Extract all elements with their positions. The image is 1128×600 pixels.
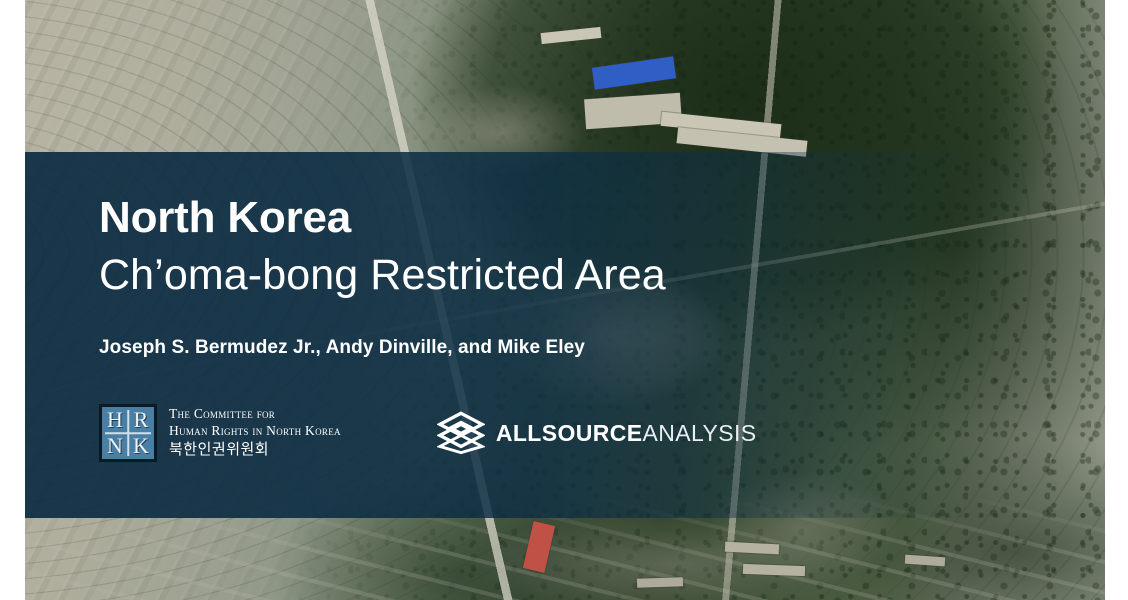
hrnk-letter-h: H	[102, 407, 128, 433]
hrnk-line-2: Human Rights in North Korea	[169, 423, 341, 440]
stacked-layers-diamond-icon	[437, 410, 485, 456]
hrnk-wordmark: The Committee for Human Rights in North …	[169, 406, 341, 460]
cover-slide: North Korea Ch’oma-bong Restricted Area …	[0, 0, 1128, 600]
hrnk-quadrant-logo-icon: H R N K	[99, 404, 157, 462]
hrnk-letter-k: K	[128, 433, 154, 459]
hrnk-line-1: The Committee for	[169, 406, 341, 423]
hrnk-logo: H R N K The Committee for Human Rights i…	[99, 404, 341, 462]
allsource-analysis-logo: ALLSOURCEANALYSIS	[437, 410, 757, 456]
hrnk-letter-n: N	[102, 433, 128, 459]
hrnk-letter-r: R	[128, 407, 154, 433]
author-byline: Joseph S. Bermudez Jr., Andy Dinville, a…	[99, 337, 585, 359]
allsource-name-light: ANALYSIS	[643, 420, 757, 446]
page-title-secondary: Ch’oma-bong Restricted Area	[99, 254, 919, 297]
hrnk-line-korean: 북한인권위원회	[169, 441, 341, 460]
allsource-wordmark: ALLSOURCEANALYSIS	[496, 422, 757, 445]
page-title-primary: North Korea	[99, 196, 919, 240]
village-building-3	[637, 577, 683, 588]
village-building-2	[743, 564, 805, 576]
allsource-name-bold: ALLSOURCE	[496, 420, 643, 446]
title-block: North Korea Ch’oma-bong Restricted Area	[99, 196, 919, 297]
logo-row: H R N K The Committee for Human Rights i…	[99, 404, 757, 462]
